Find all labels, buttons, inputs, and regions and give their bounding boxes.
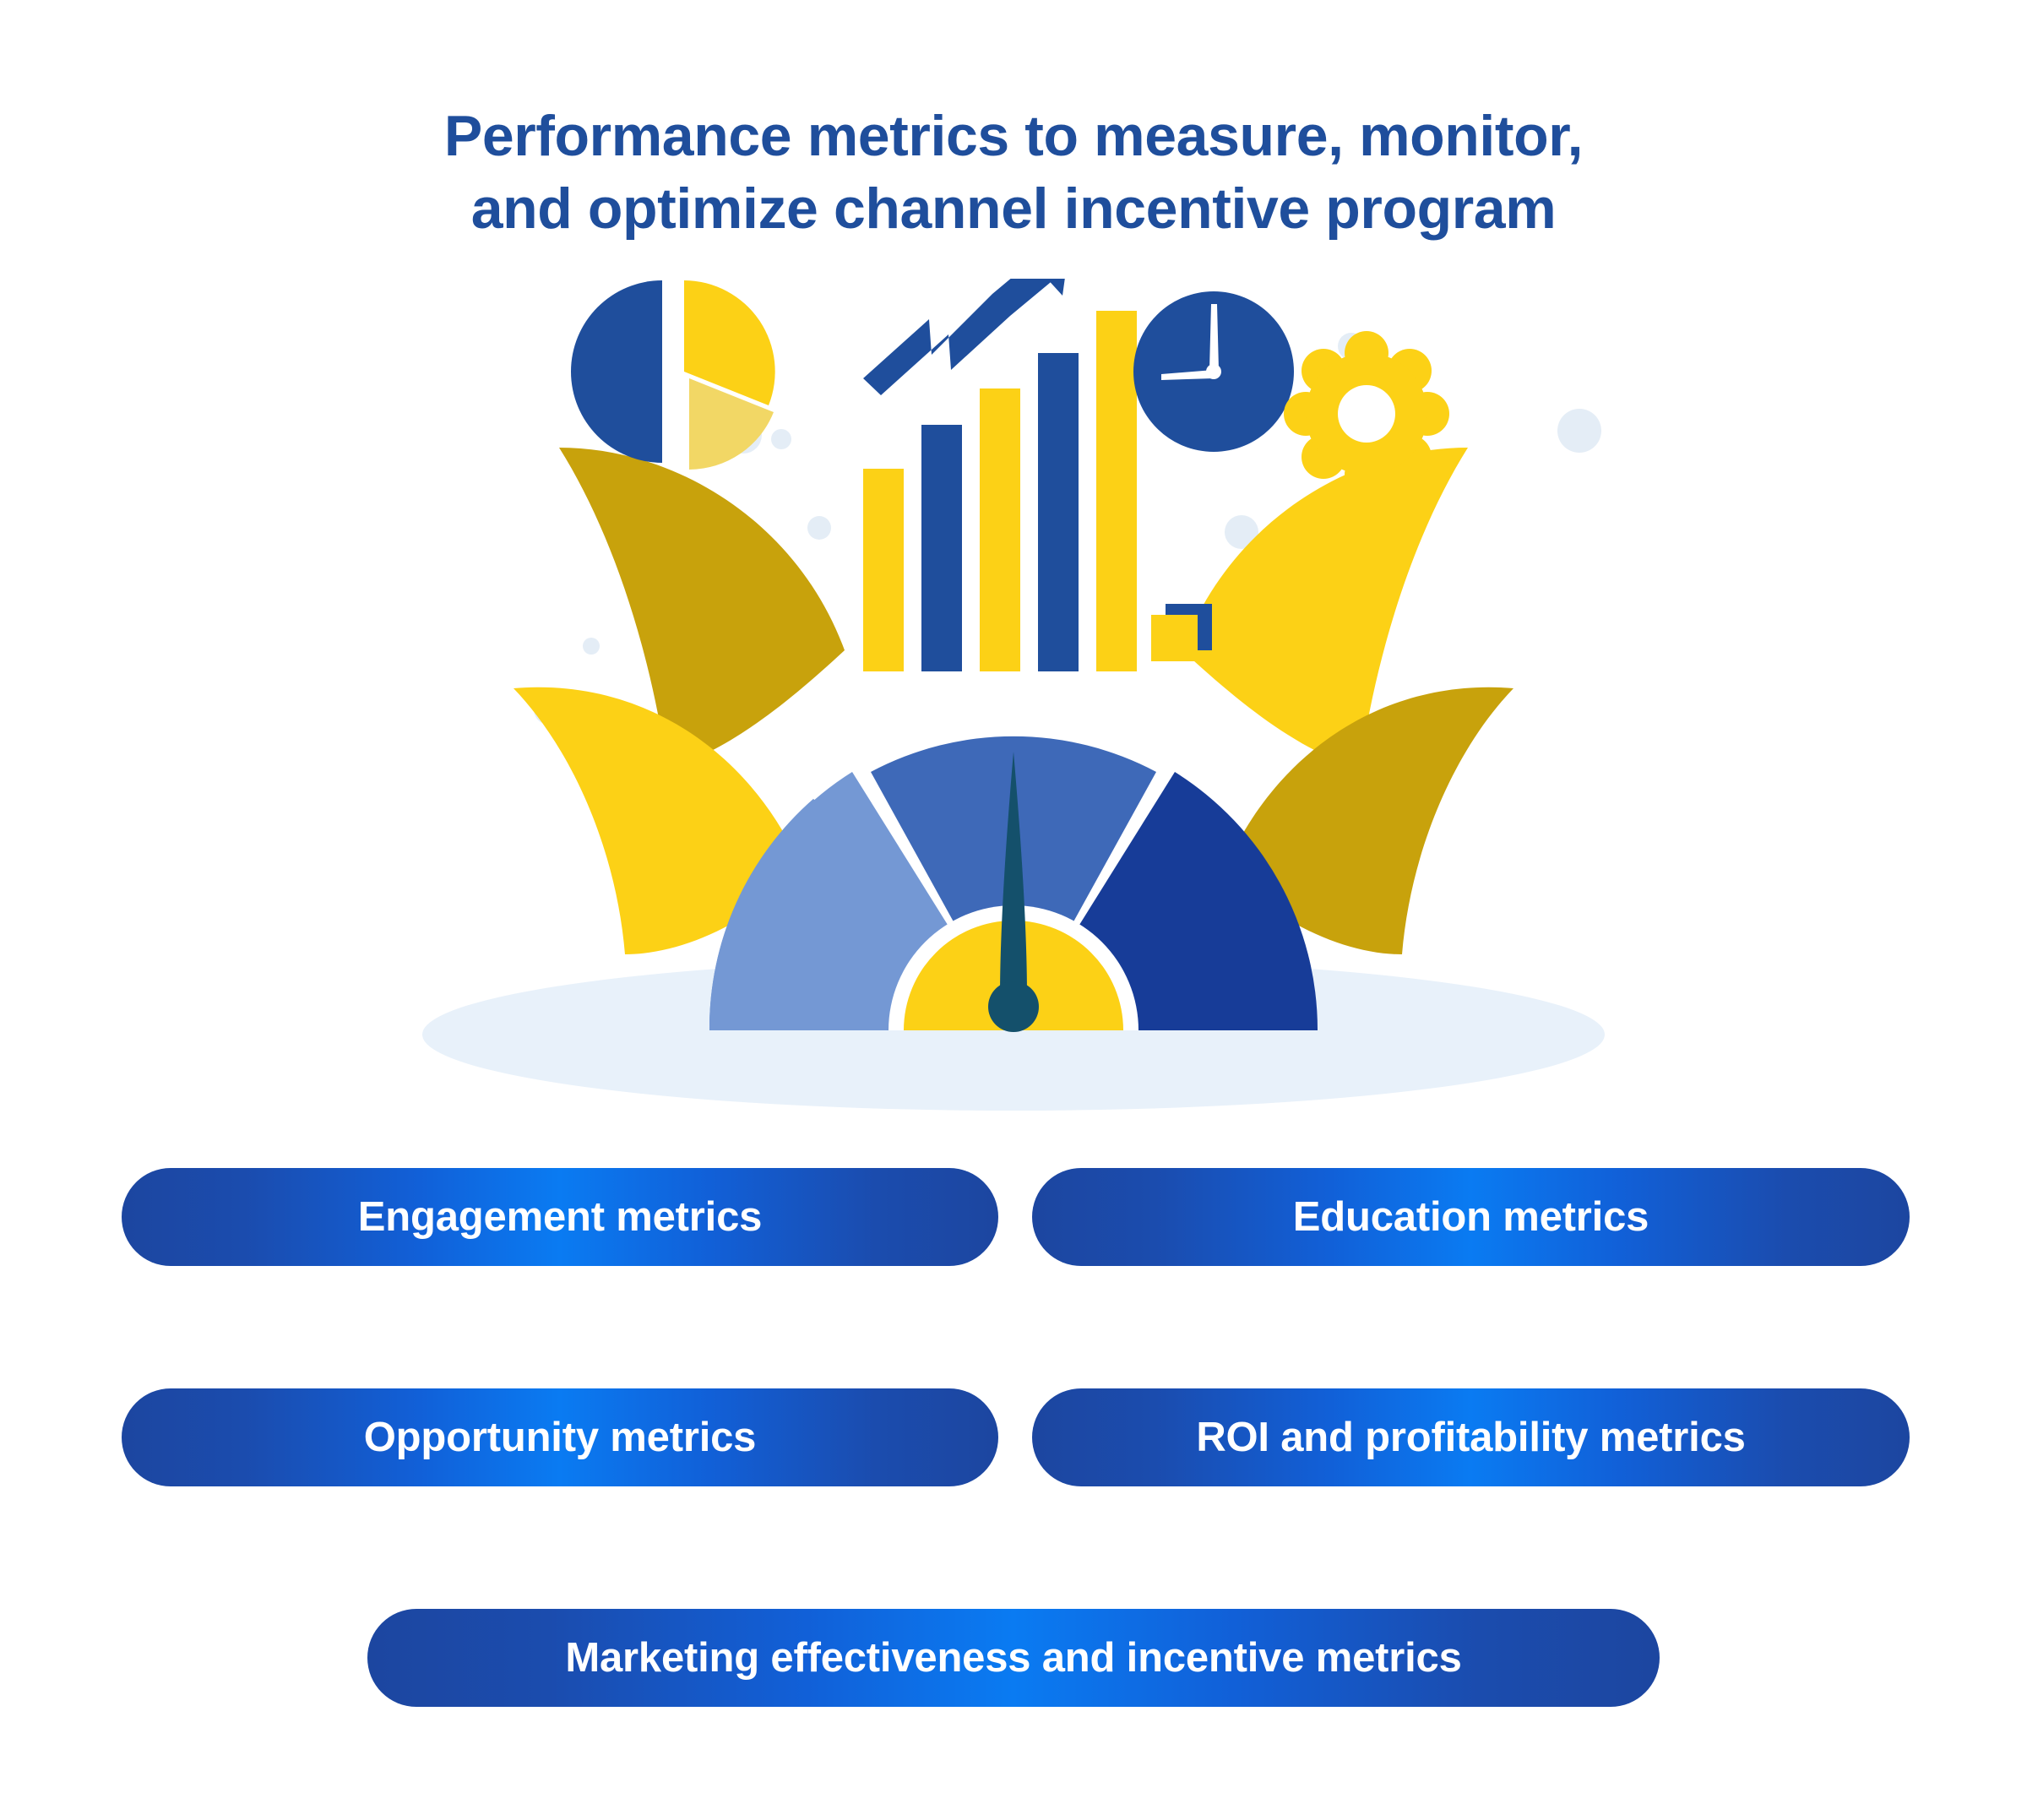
pill-roi-and-profitability-metrics[interactable]: ROI and profitability metrics — [1032, 1388, 1910, 1486]
pill-opportunity-metrics[interactable]: Opportunity metrics — [122, 1388, 998, 1486]
pill-label: Opportunity metrics — [364, 1414, 756, 1461]
pie-chart-icon — [571, 280, 775, 470]
pill-engagement-metrics[interactable]: Engagement metrics — [122, 1168, 998, 1266]
pill-label: ROI and profitability metrics — [1196, 1414, 1745, 1461]
pill-marketing-effectiveness-and-incentive-metrics[interactable]: Marketing effectiveness and incentive me… — [367, 1609, 1660, 1707]
pill-education-metrics[interactable]: Education metrics — [1032, 1168, 1910, 1266]
pill-label: Engagement metrics — [358, 1193, 762, 1241]
title-line-1: Performance metrics to measure, monitor, — [0, 100, 2027, 172]
infographic-page: Performance metrics to measure, monitor,… — [0, 0, 2027, 1820]
page-title: Performance metrics to measure, monitor,… — [0, 100, 2027, 245]
pill-label: Marketing effectiveness and incentive me… — [565, 1634, 1461, 1681]
gauge-hub-pivot — [988, 981, 1039, 1032]
pill-label: Education metrics — [1293, 1193, 1649, 1241]
title-line-2: and optimize channel incentive program — [0, 172, 2027, 245]
gear-icon — [1284, 331, 1449, 497]
clock-icon — [1133, 291, 1294, 452]
performance-dashboard-illustration — [0, 279, 2027, 1140]
speedometer-gauge — [709, 736, 1318, 1032]
